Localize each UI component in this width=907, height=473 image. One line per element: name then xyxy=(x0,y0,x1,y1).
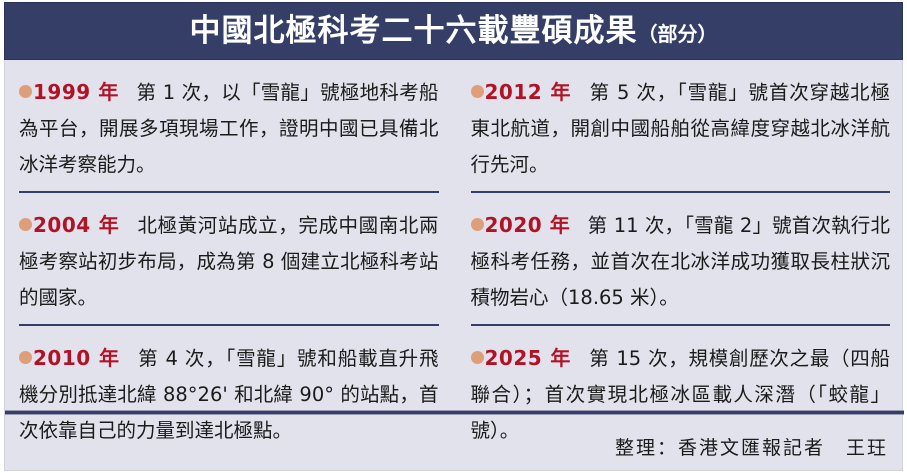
entry-paragraph: 2020 年第 11 次，「雪龍 2」號首次執行北極科考任務，並首次在北冰洋成功… xyxy=(471,207,891,316)
infographic-root: 中國北極科考二十六載豐碩成果（部分） 1999 年第 1 次，以「雪龍」號極地科… xyxy=(0,0,907,473)
timeline-entry: 1999 年第 1 次，以「雪龍」號極地科考船為平台，開展多項現場工作，證明中國… xyxy=(19,60,439,191)
entry-year: 2004 年 xyxy=(33,213,120,237)
entry-columns: 1999 年第 1 次，以「雪龍」號極地科考船為平台，開展多項現場工作，證明中國… xyxy=(5,60,904,408)
entry-year: 2010 年 xyxy=(33,346,120,370)
bullet-dot-icon xyxy=(471,85,484,98)
timeline-entry: 2020 年第 11 次，「雪龍 2」號首次執行北極科考任務，並首次在北冰洋成功… xyxy=(471,191,891,324)
entry-year: 2020 年 xyxy=(485,213,571,237)
header-band: 中國北極科考二十六載豐碩成果（部分） xyxy=(4,2,903,60)
bullet-dot-icon xyxy=(471,218,484,231)
entry-year: 1999 年 xyxy=(33,80,119,104)
timeline-entry: 2004 年北極黃河站成立，完成中國南北兩極考察站初步布局，成為第 8 個建立北… xyxy=(19,191,439,324)
bullet-dot-icon xyxy=(19,218,32,231)
page-title: 中國北極科考二十六載豐碩成果（部分） xyxy=(190,16,718,47)
timeline-entry: 2012 年第 5 次，「雪龍」號首次穿越北極東北航道，開創中國船舶從高緯度穿越… xyxy=(471,60,891,191)
bullet-dot-icon xyxy=(471,351,484,364)
credit-line: 整理：香港文匯報記者 王玨 xyxy=(615,433,888,460)
entry-year: 2025 年 xyxy=(485,346,572,370)
right-column: 2012 年第 5 次，「雪龍」號首次穿越北極東北航道，開創中國船舶從高緯度穿越… xyxy=(455,60,905,408)
body-area: 1999 年第 1 次，以「雪龍」號極地科考船為平台，開展多項現場工作，證明中國… xyxy=(4,60,903,471)
entry-year: 2012 年 xyxy=(485,80,572,104)
footer-divider xyxy=(5,410,904,415)
bullet-dot-icon xyxy=(19,85,32,98)
page-title-main: 中國北極科考二十六載豐碩成果 xyxy=(190,16,638,47)
entry-paragraph: 2004 年北極黃河站成立，完成中國南北兩極考察站初步布局，成為第 8 個建立北… xyxy=(19,207,439,316)
footer: 整理：香港文匯報記者 王玨 xyxy=(5,422,904,470)
page-title-sub: （部分） xyxy=(638,24,718,44)
entry-paragraph: 2012 年第 5 次，「雪龍」號首次穿越北極東北航道，開創中國船舶從高緯度穿越… xyxy=(471,74,891,183)
entry-paragraph: 1999 年第 1 次，以「雪龍」號極地科考船為平台，開展多項現場工作，證明中國… xyxy=(19,74,439,183)
bullet-dot-icon xyxy=(19,351,32,364)
left-column: 1999 年第 1 次，以「雪龍」號極地科考船為平台，開展多項現場工作，證明中國… xyxy=(5,60,455,408)
